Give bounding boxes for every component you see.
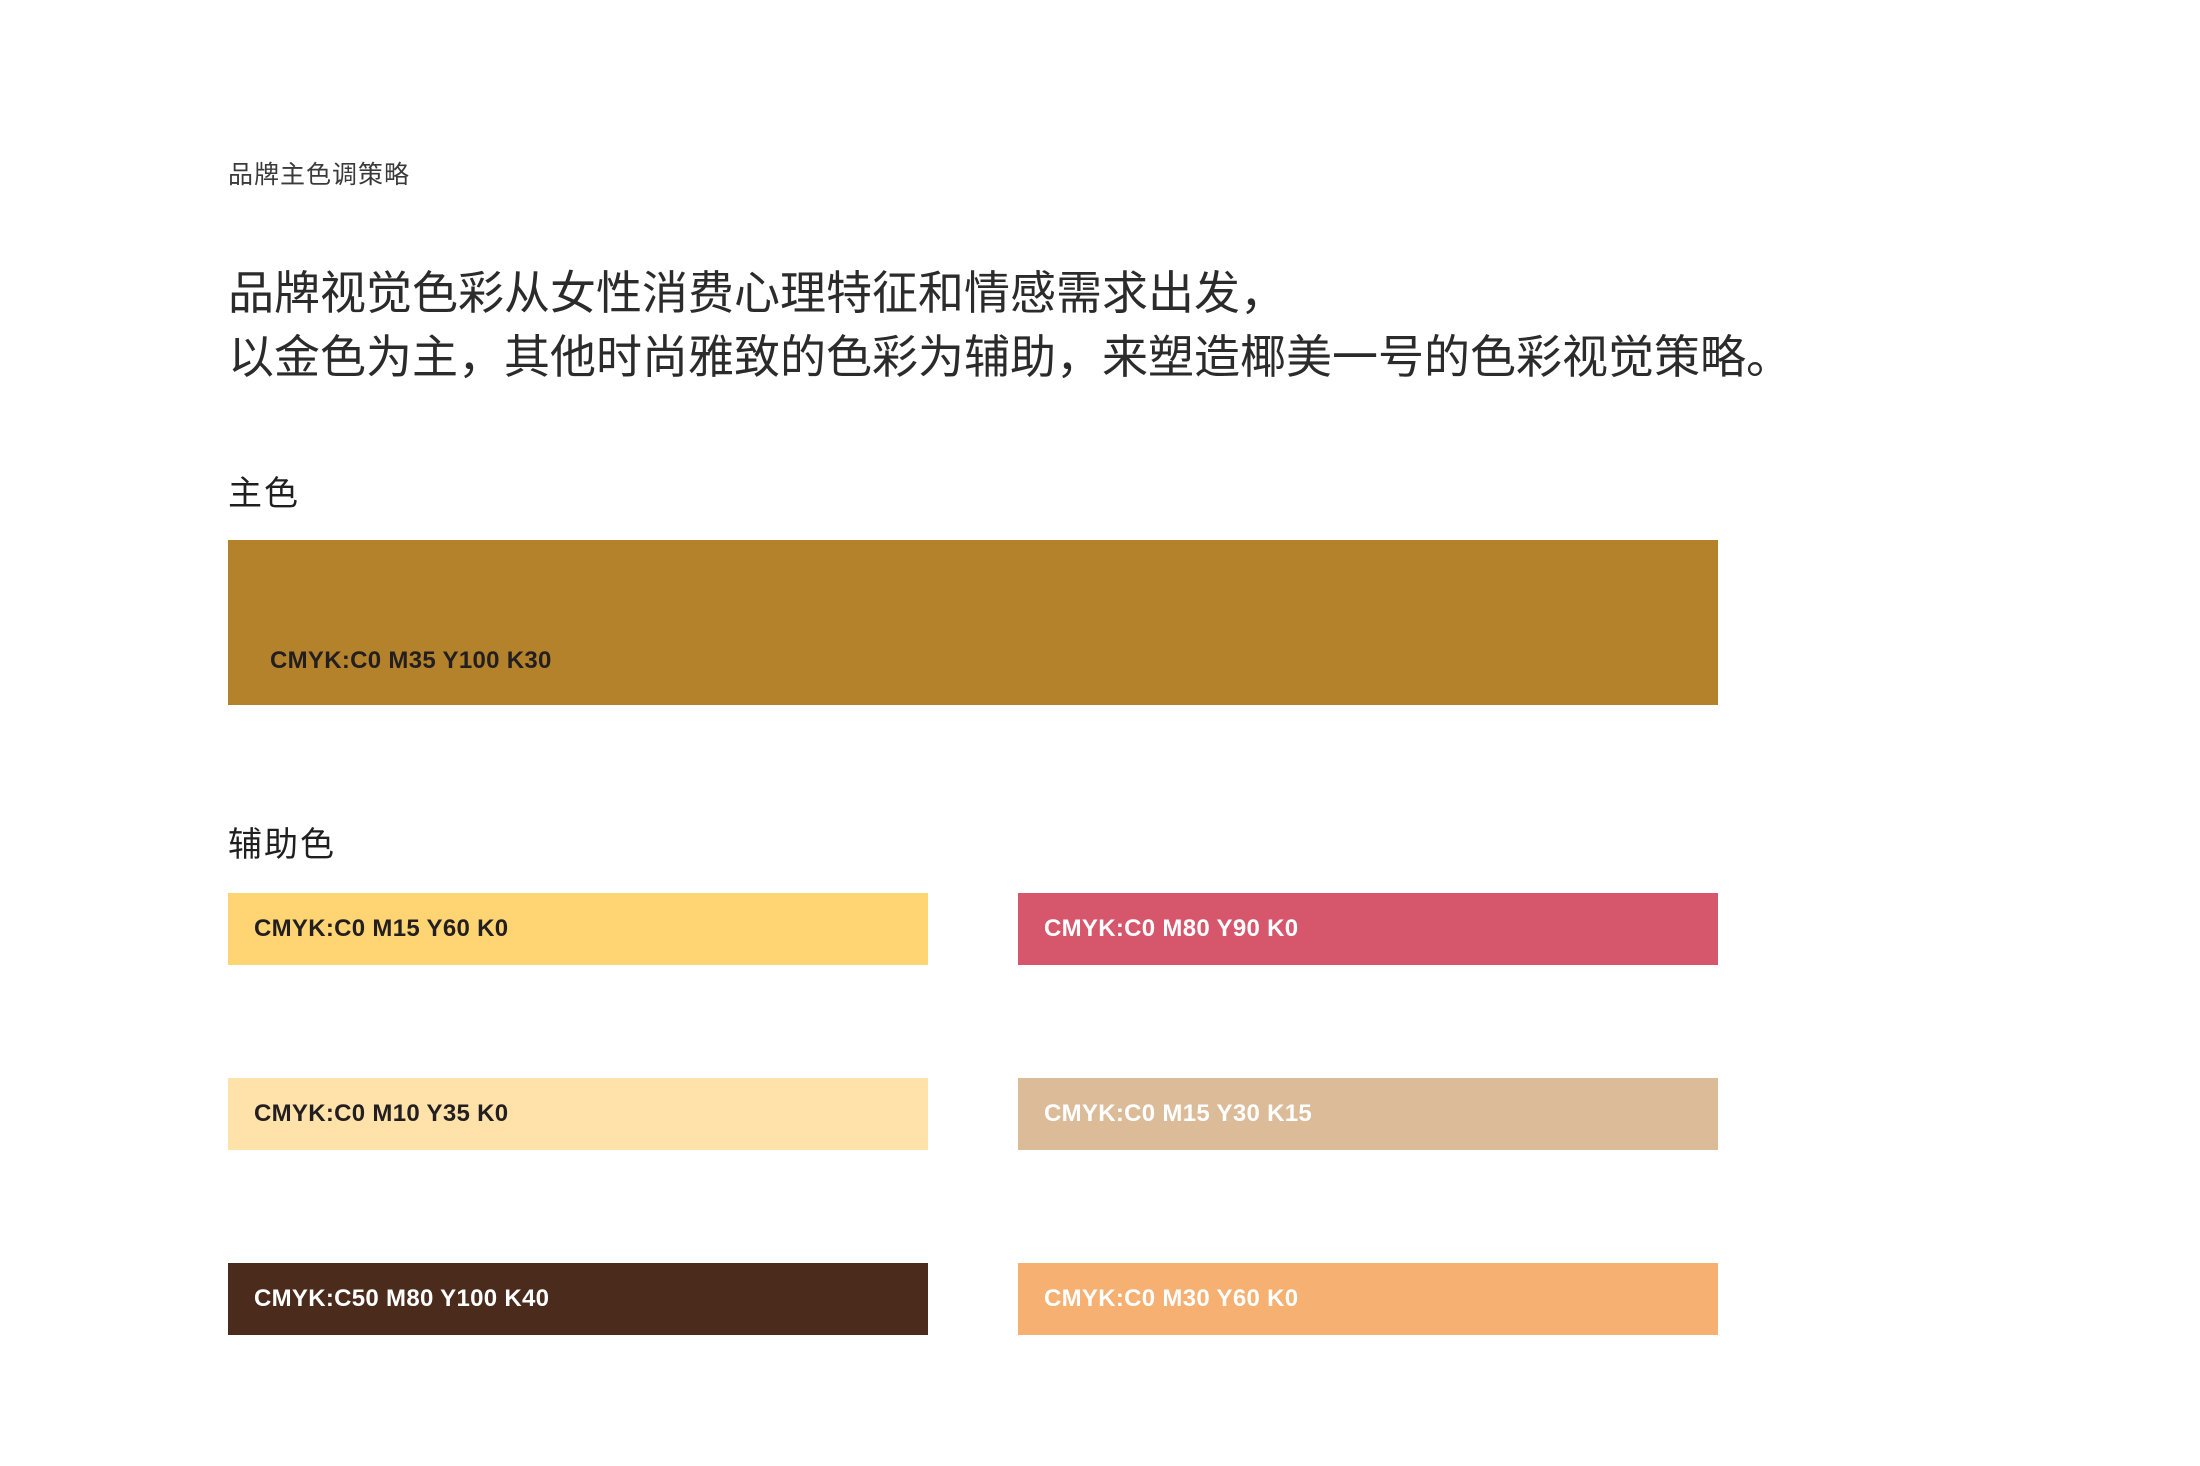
section-title-secondary: 辅助色 <box>228 817 336 866</box>
auxiliary-color-grid: CMYK:C0 M15 Y60 K0 CMYK:C0 M80 Y90 K0 CM… <box>228 893 1718 1448</box>
auxiliary-color-swatch-1: CMYK:C0 M15 Y60 K0 <box>228 893 928 965</box>
auxiliary-color-label-3: CMYK:C0 M10 Y35 K0 <box>254 1100 508 1128</box>
auxiliary-color-label-1: CMYK:C0 M15 Y60 K0 <box>254 915 508 943</box>
page-eyebrow-label: 品牌主色调策略 <box>228 155 410 191</box>
lead-paragraph-line-1: 品牌视觉色彩从女性消费心理特征和情感需求出发， <box>228 262 1792 326</box>
auxiliary-color-label-5: CMYK:C50 M80 Y100 K40 <box>254 1285 549 1313</box>
lead-paragraph-line-2: 以金色为主，其他时尚雅致的色彩为辅助，来塑造椰美一号的色彩视觉策略。 <box>228 326 1792 390</box>
auxiliary-color-swatch-4: CMYK:C0 M15 Y30 K15 <box>1018 1078 1718 1150</box>
color-strategy-page: 品牌主色调策略 品牌视觉色彩从女性消费心理特征和情感需求出发， 以金色为主，其他… <box>0 0 2200 1466</box>
auxiliary-color-label-2: CMYK:C0 M80 Y90 K0 <box>1044 915 1298 943</box>
auxiliary-color-row: CMYK:C0 M10 Y35 K0 CMYK:C0 M15 Y30 K15 <box>228 1078 1718 1263</box>
auxiliary-color-swatch-6: CMYK:C0 M30 Y60 K0 <box>1018 1263 1718 1335</box>
auxiliary-color-swatch-2: CMYK:C0 M80 Y90 K0 <box>1018 893 1718 965</box>
auxiliary-color-label-4: CMYK:C0 M15 Y30 K15 <box>1044 1100 1312 1128</box>
lead-paragraph: 品牌视觉色彩从女性消费心理特征和情感需求出发， 以金色为主，其他时尚雅致的色彩为… <box>228 262 1792 390</box>
auxiliary-color-swatch-5: CMYK:C50 M80 Y100 K40 <box>228 1263 928 1335</box>
primary-color-swatch: CMYK:C0 M35 Y100 K30 <box>228 540 1718 705</box>
auxiliary-color-row: CMYK:C50 M80 Y100 K40 CMYK:C0 M30 Y60 K0 <box>228 1263 1718 1448</box>
primary-color-label: CMYK:C0 M35 Y100 K30 <box>270 647 552 675</box>
auxiliary-color-label-6: CMYK:C0 M30 Y60 K0 <box>1044 1285 1298 1313</box>
auxiliary-color-row: CMYK:C0 M15 Y60 K0 CMYK:C0 M80 Y90 K0 <box>228 893 1718 1078</box>
section-title-primary: 主色 <box>228 466 300 515</box>
auxiliary-color-swatch-3: CMYK:C0 M10 Y35 K0 <box>228 1078 928 1150</box>
